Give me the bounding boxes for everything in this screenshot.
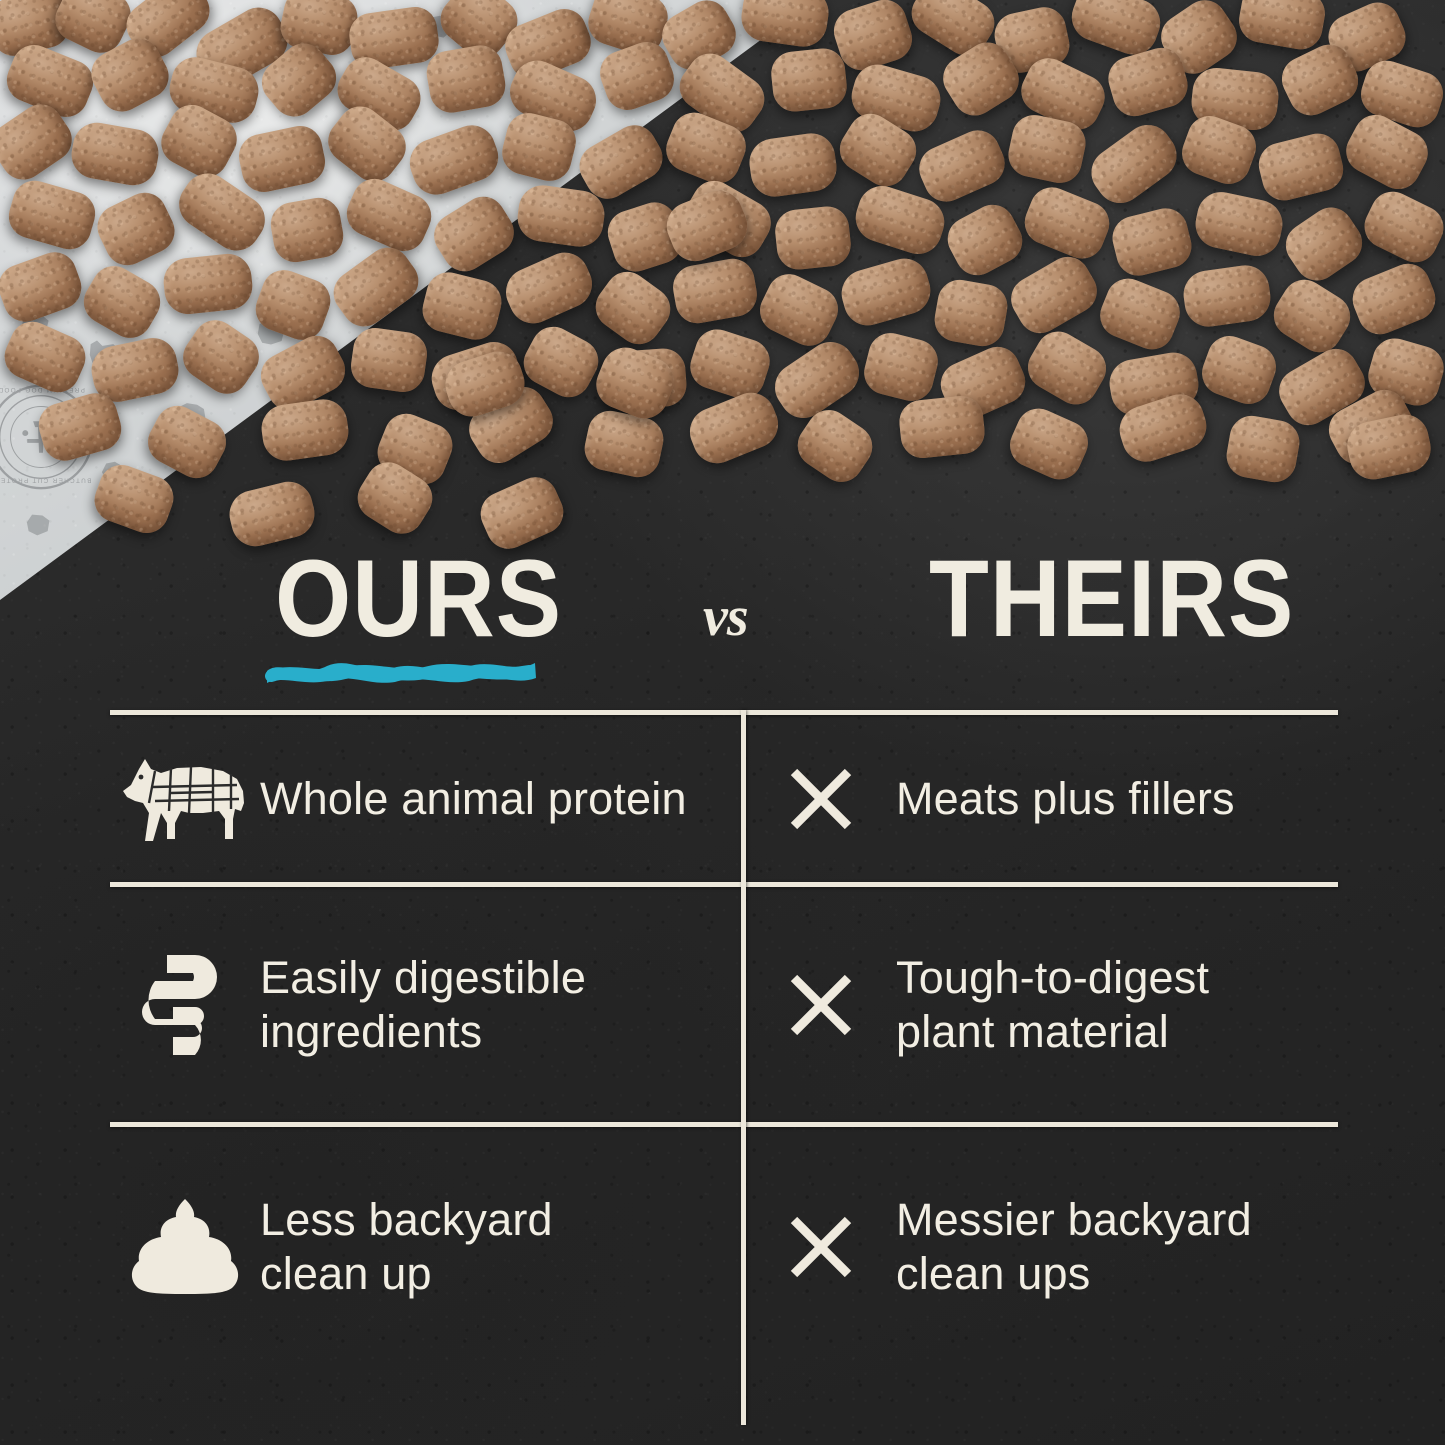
ours-row2-text: Easily digestible ingredients	[260, 951, 660, 1059]
table-row: Easily digestible ingredients	[110, 887, 741, 1122]
product-comparison-graphic: BUTCHER CUT PROTEIN PREMIUM DOG FOOD	[0, 0, 1445, 1445]
table-headers: OURS vs THEIRS	[110, 560, 1338, 710]
ours-header: OURS	[275, 543, 562, 653]
table-row: Messier backyard clean ups	[746, 1127, 1338, 1367]
x-icon	[746, 1214, 896, 1280]
table-row: Meats plus fillers	[746, 715, 1338, 882]
ours-row3-text: Less backyard clean up	[260, 1193, 590, 1301]
table-grid: Whole animal protein Meats plus fillers …	[110, 710, 1338, 1435]
comparison-table: OURS vs THEIRS	[110, 560, 1338, 1435]
ours-row1-text: Whole animal protein	[260, 772, 687, 826]
theirs-row2-text: Tough-to-digest plant material	[896, 951, 1256, 1059]
table-row: Less backyard clean up	[110, 1127, 741, 1367]
cow-butcher-chart-icon	[110, 747, 260, 851]
intestine-icon	[110, 949, 260, 1061]
x-icon	[746, 972, 896, 1038]
vs-label: vs	[703, 585, 748, 649]
x-icon	[746, 766, 896, 832]
svg-text:BUTCHER CUT PROTEIN: BUTCHER CUT PROTEIN	[0, 476, 91, 483]
table-row: Whole animal protein	[110, 715, 741, 882]
ours-underline-brushstroke	[265, 652, 537, 686]
theirs-header: THEIRS	[929, 543, 1294, 653]
theirs-row3-text: Messier backyard clean ups	[896, 1193, 1276, 1301]
theirs-row1-text: Meats plus fillers	[896, 772, 1235, 826]
table-row: Tough-to-digest plant material	[746, 887, 1338, 1122]
poop-icon	[110, 1197, 260, 1297]
animal-silhouette-pattern	[25, 512, 53, 538]
